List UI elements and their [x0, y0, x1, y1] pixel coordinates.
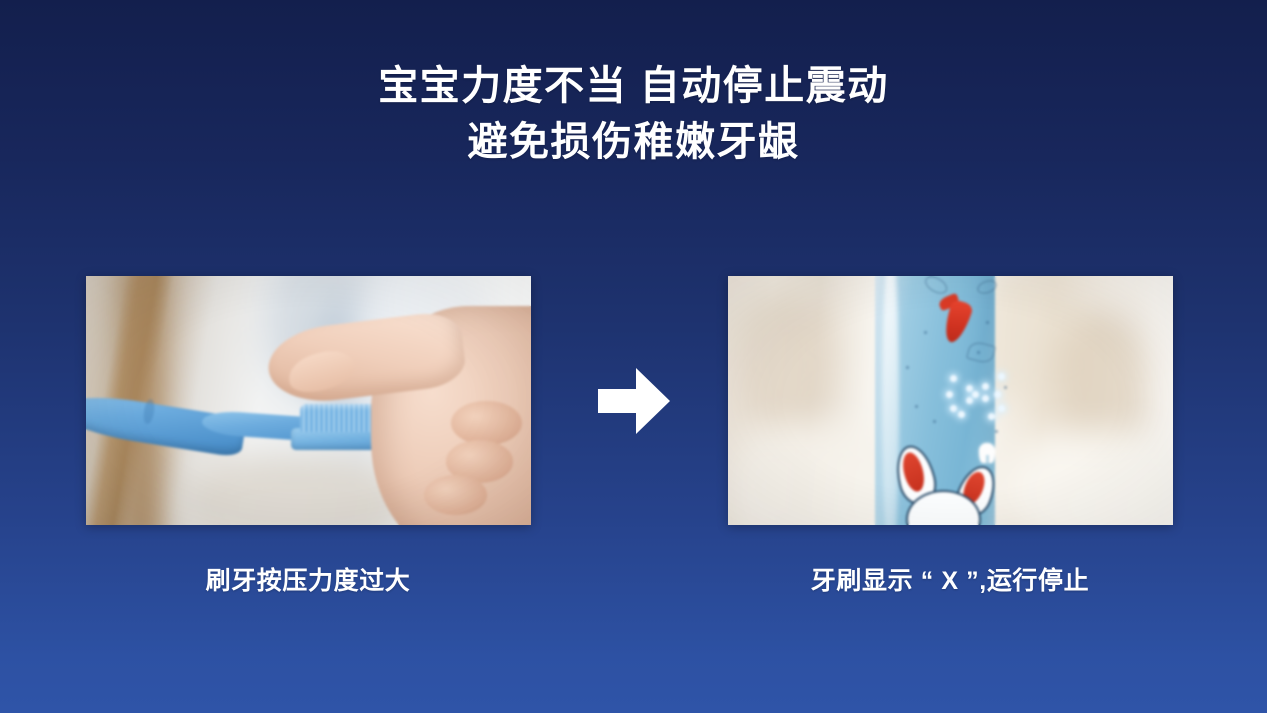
- knuckle-3: [424, 475, 486, 515]
- caption-right: 牙刷显示 “ X ”,运行停止: [690, 561, 1210, 597]
- title-line-1: 宝宝力度不当 自动停止震动: [0, 58, 1267, 114]
- tooth-icon: [979, 443, 995, 463]
- speck-0: [924, 331, 927, 334]
- led-dot-1: [966, 385, 973, 392]
- led-dot-11: [958, 411, 965, 418]
- photo-right-brush-shows-x: [728, 276, 1173, 525]
- photo-left-pressing-brush: [86, 276, 531, 525]
- knuckle-1: [451, 401, 522, 446]
- led-dot-3: [998, 405, 1005, 412]
- led-dot-9: [972, 391, 979, 398]
- arrow-right-icon: [598, 368, 670, 434]
- handle-highlight: [882, 276, 900, 525]
- led-dot-4: [950, 405, 957, 412]
- led-dot-0: [950, 375, 957, 382]
- speck-3: [1004, 386, 1007, 389]
- led-x-indicator: [942, 371, 991, 421]
- speck-7: [977, 351, 980, 354]
- blurred-bg-5: [1004, 430, 1173, 525]
- led-dot-2: [982, 395, 989, 402]
- photo-right-content: [728, 276, 1173, 525]
- speck-1: [986, 321, 989, 324]
- led-dot-5: [966, 397, 973, 404]
- led-dot-6: [982, 383, 989, 390]
- led-dot-10: [994, 391, 1001, 398]
- blurred-bg-1: [737, 296, 835, 433]
- page-title: 宝宝力度不当 自动停止震动 避免损伤稚嫩牙龈: [0, 58, 1267, 170]
- led-dot-7: [998, 373, 1005, 380]
- slide-root: 宝宝力度不当 自动停止震动 避免损伤稚嫩牙龈: [0, 0, 1267, 713]
- led-dot-12: [988, 413, 995, 420]
- title-line-2: 避免损伤稚嫩牙龈: [0, 114, 1267, 170]
- caption-left: 刷牙按压力度过大: [48, 561, 568, 597]
- photo-left-content: [86, 276, 531, 525]
- speck-2: [906, 366, 909, 369]
- led-dot-8: [946, 391, 953, 398]
